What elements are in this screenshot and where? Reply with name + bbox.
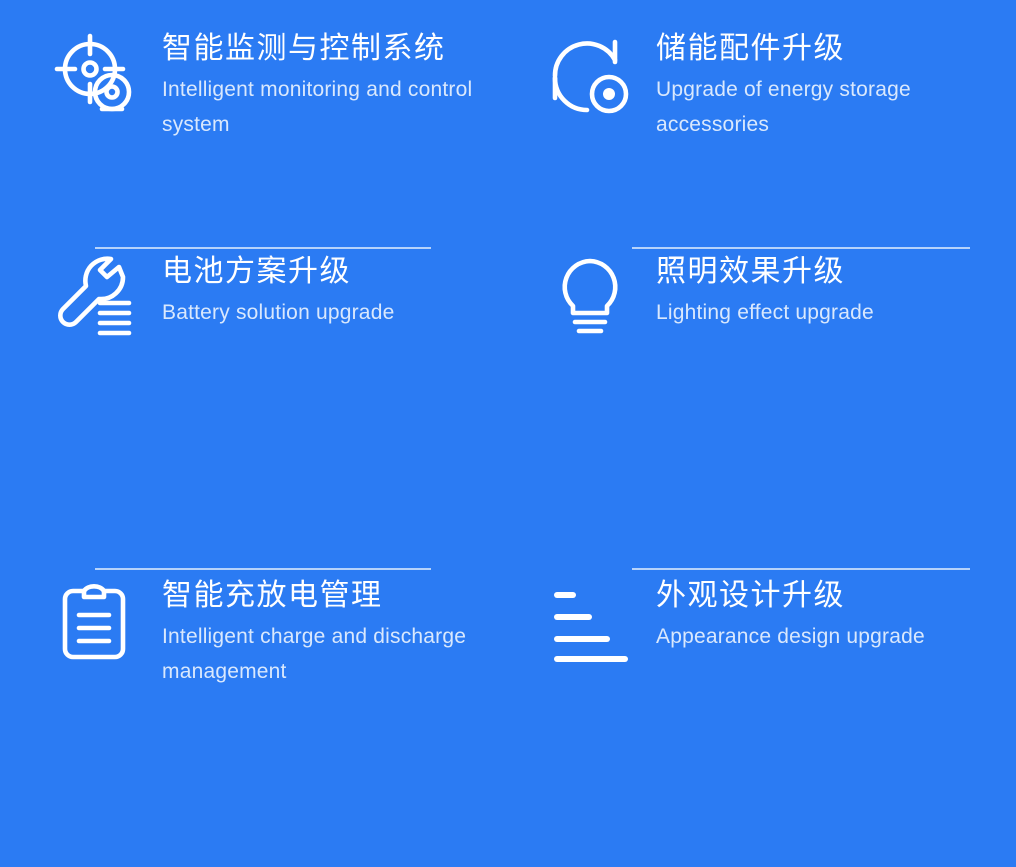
feature-title: 照明效果升级: [656, 251, 874, 292]
feature-subtitle: Upgrade of energy storage accessories: [656, 73, 986, 142]
feature-title: 智能监测与控制系统: [162, 28, 492, 69]
feature-subtitle: Appearance design upgrade: [656, 620, 925, 655]
feature-subtitle: Intelligent monitoring and control syste…: [162, 73, 492, 142]
clipboard-list-icon: [48, 575, 144, 679]
feature-title: 智能充放电管理: [162, 575, 492, 616]
feature-subtitle: Lighting effect upgrade: [656, 296, 874, 331]
feature-title: 电池方案升级: [162, 251, 394, 292]
features-grid: 智能监测与控制系统 Intelligent monitoring and con…: [0, 0, 1016, 867]
rotation-sync-circle-icon: [542, 28, 638, 132]
feature-card-lighting-effect[interactable]: 照明效果升级 Lighting effect upgrade: [528, 213, 1016, 540]
feature-title: 储能配件升级: [656, 28, 986, 69]
divider-row2-left: [95, 568, 431, 570]
feature-subtitle: Battery solution upgrade: [162, 296, 394, 331]
lightbulb-icon: [542, 251, 638, 355]
feature-card-charge-discharge-management[interactable]: 智能充放电管理 Intelligent charge and discharge…: [0, 540, 528, 867]
wrench-settings-icon: [48, 251, 144, 355]
divider-row1-left: [95, 247, 431, 249]
feature-card-energy-storage-accessories[interactable]: 储能配件升级 Upgrade of energy storage accesso…: [528, 0, 1016, 213]
stacked-lines-icon: [542, 575, 638, 679]
divider-row1-right: [632, 247, 970, 249]
divider-row2-right: [632, 568, 970, 570]
feature-card-battery-solution[interactable]: 电池方案升级 Battery solution upgrade: [0, 213, 528, 540]
feature-card-intelligent-monitoring[interactable]: 智能监测与控制系统 Intelligent monitoring and con…: [0, 0, 528, 213]
crosshair-target-icon: [48, 28, 144, 132]
feature-card-appearance-design[interactable]: 外观设计升级 Appearance design upgrade: [528, 540, 1016, 867]
feature-subtitle: Intelligent charge and discharge managem…: [162, 620, 492, 689]
feature-title: 外观设计升级: [656, 575, 925, 616]
